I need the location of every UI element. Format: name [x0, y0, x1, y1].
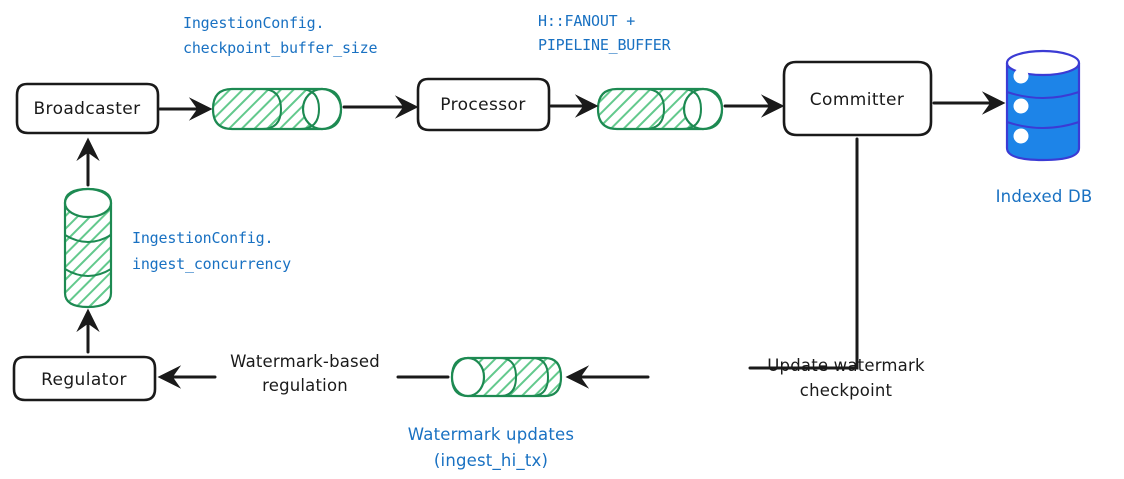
annotation-pipeline-buffer-line1: H::FANOUT +	[538, 12, 635, 30]
edge-committer-to-watermark-path	[750, 139, 857, 368]
node-regulator[interactable]: Regulator	[14, 357, 155, 400]
db-indicator-dot	[1014, 99, 1029, 114]
node-processor[interactable]: Processor	[418, 79, 549, 130]
annotation-watermark-updates-line2: (ingest_hi_tx)	[434, 451, 548, 471]
buffer-pipeline-buffer	[598, 89, 722, 129]
annotation-watermark-regulation-line2: regulation	[262, 376, 348, 395]
pipeline-diagram: Broadcaster Processor Committer Regulato…	[0, 0, 1124, 479]
node-committer[interactable]: Committer	[784, 62, 931, 135]
node-indexed-db[interactable]: Indexed DB	[996, 51, 1093, 206]
annotation-ingest-concurrency-line2: ingest_concurrency	[132, 255, 291, 273]
node-regulator-label: Regulator	[41, 370, 127, 390]
buffer-checkpoint-buffer	[213, 89, 341, 129]
indexed-db-label: Indexed DB	[996, 187, 1093, 206]
db-indicator-dot	[1014, 129, 1029, 144]
annotation-watermark-updates-line1: Watermark updates	[408, 425, 574, 444]
node-broadcaster[interactable]: Broadcaster	[17, 84, 158, 133]
annotation-checkpoint-buffer-line2: checkpoint_buffer_size	[183, 39, 377, 57]
buffer-ingest-concurrency	[65, 189, 111, 307]
diagram-canvas: Broadcaster Processor Committer Regulato…	[0, 0, 1124, 479]
annotation-watermark-regulation-line1: Watermark-based	[230, 352, 380, 371]
annotation-ingest-concurrency-line1: IngestionConfig.	[132, 229, 273, 247]
annotation-update-watermark-line1: Update watermark	[767, 356, 925, 375]
node-broadcaster-label: Broadcaster	[33, 99, 140, 119]
node-committer-label: Committer	[810, 90, 905, 110]
annotation-update-watermark-line2: checkpoint	[800, 381, 893, 400]
buffer-watermark-updates	[452, 358, 561, 396]
db-indicator-dot	[1014, 69, 1029, 84]
annotation-checkpoint-buffer-line1: IngestionConfig.	[183, 14, 324, 32]
annotation-pipeline-buffer-line2: PIPELINE_BUFFER	[538, 36, 672, 54]
node-processor-label: Processor	[440, 95, 525, 115]
